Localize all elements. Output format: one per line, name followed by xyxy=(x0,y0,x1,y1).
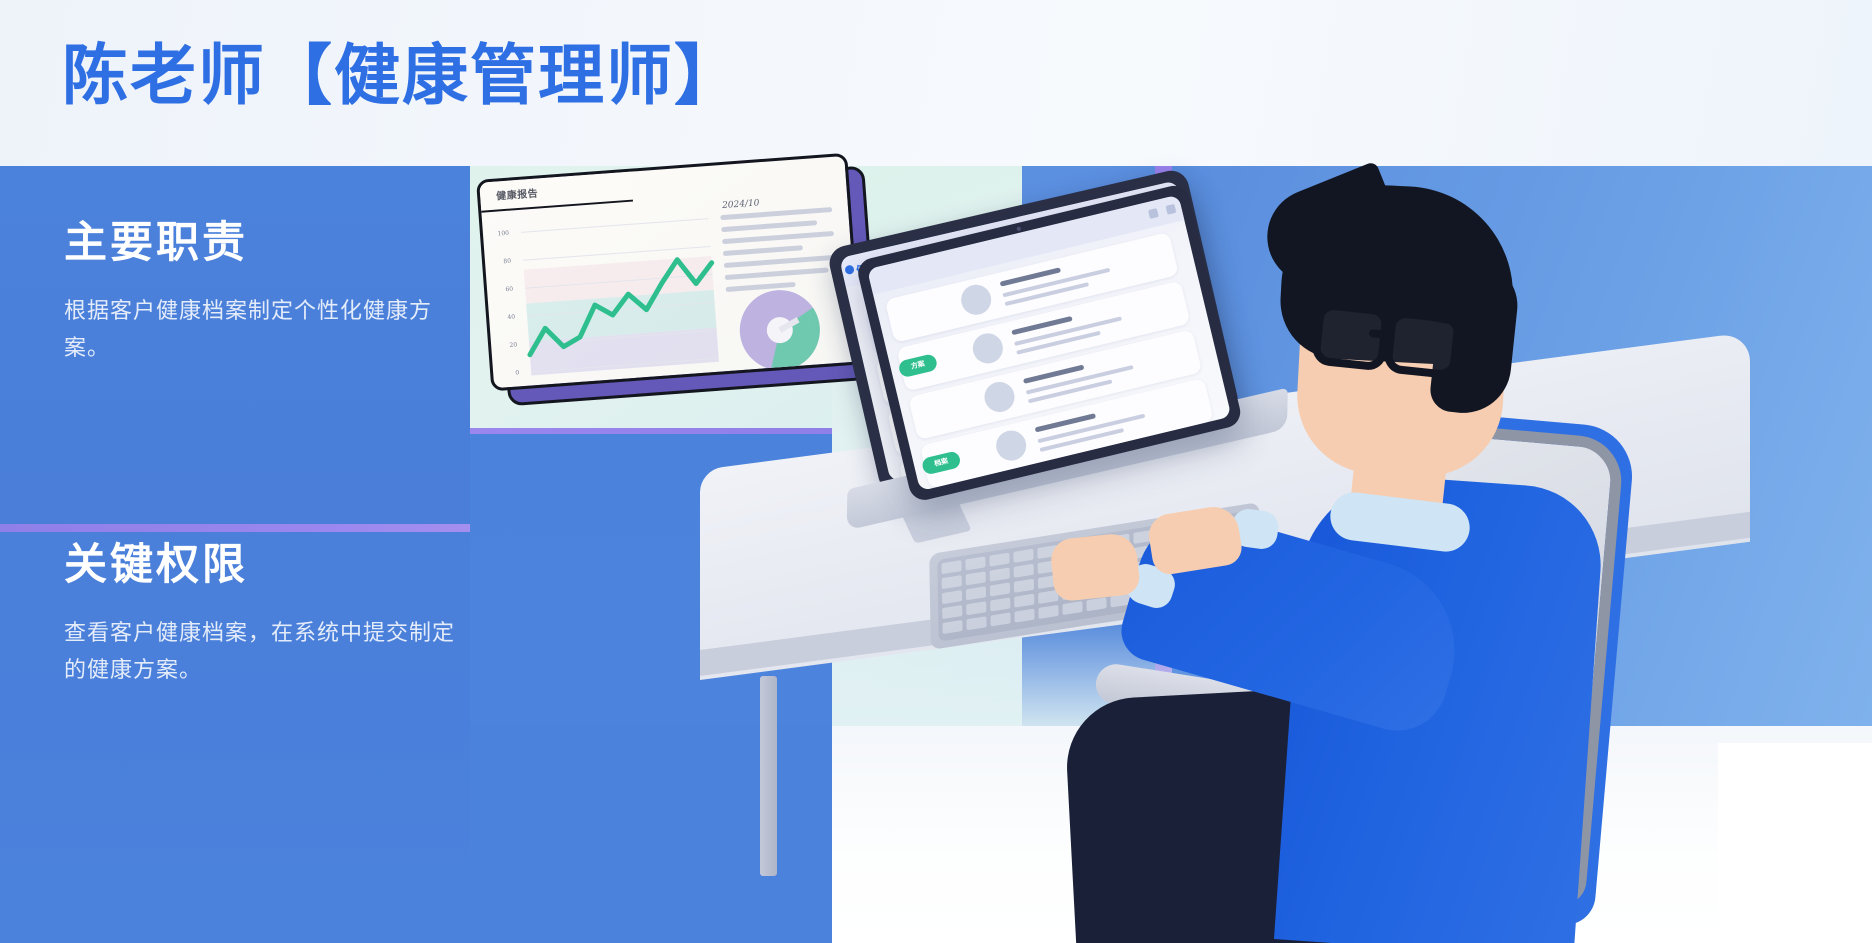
section-main-responsibility: 主要职责 根据客户健康档案制定个性化健康方案。 xyxy=(64,220,464,366)
card-text-line xyxy=(723,245,803,256)
floor-left-blue xyxy=(470,726,832,943)
chart-y-tick-label: 80 xyxy=(491,258,511,266)
header-band: 陈老师【健康管理师】 xyxy=(0,0,1872,166)
card-front: 健康报告 2024/10 100806040200 xyxy=(476,153,863,392)
page-title: 陈老师【健康管理师】 xyxy=(62,42,742,108)
keyboard-key[interactable] xyxy=(942,590,962,604)
avatar xyxy=(970,330,1006,366)
app-logo-icon xyxy=(844,264,855,275)
section-title: 关键权限 xyxy=(64,542,464,589)
card-text-line xyxy=(724,255,836,268)
person-hand-left xyxy=(1049,532,1141,603)
keyboard-key[interactable] xyxy=(941,560,961,574)
left-purple-divider xyxy=(0,524,470,532)
chart-line-path xyxy=(511,213,731,378)
keyboard-key[interactable] xyxy=(966,616,986,630)
card-text-line xyxy=(722,231,834,244)
chart-y-tick-label: 100 xyxy=(489,230,509,238)
keyboard-key[interactable] xyxy=(990,597,1010,611)
keyboard-key[interactable] xyxy=(966,601,986,615)
maximize-icon[interactable] xyxy=(1165,204,1176,215)
row-action-button[interactable]: 档案 xyxy=(921,450,962,475)
keyboard-key[interactable] xyxy=(1038,605,1058,619)
keyboard-key[interactable] xyxy=(942,575,962,589)
card-text-line xyxy=(721,220,817,232)
right-window-controls[interactable] xyxy=(1148,200,1194,219)
health-report-card: 健康报告 2024/10 100806040200 xyxy=(476,152,872,409)
avatar xyxy=(958,282,994,318)
section-key-permission: 关键权限 查看客户健康档案，在系统中提交制定的健康方案。 xyxy=(64,542,464,688)
chart-y-tick-label: 0 xyxy=(499,369,519,377)
section-body: 查看客户健康档案，在系统中提交制定的健康方案。 xyxy=(64,615,464,688)
card-text-lines xyxy=(720,207,838,299)
chart-y-tick-label: 20 xyxy=(497,341,517,349)
keyboard-key[interactable] xyxy=(966,571,986,585)
keyboard-key[interactable] xyxy=(1014,579,1034,593)
keyboard-key[interactable] xyxy=(990,582,1010,596)
keyboard-key[interactable] xyxy=(1014,594,1034,608)
row-action-button[interactable]: 方案 xyxy=(897,353,938,378)
section-title: 主要职责 xyxy=(64,220,464,267)
keyboard-key[interactable] xyxy=(989,553,1009,567)
keyboard-key[interactable] xyxy=(990,612,1010,626)
webcam-icon xyxy=(1016,226,1021,231)
poster-canvas: 陈老师【健康管理师】 主要职责 根据客户健康档案制定个性化健康方案。 关键权限 … xyxy=(0,0,1872,943)
keyboard-key[interactable] xyxy=(1014,609,1034,623)
section-body: 根据客户健康档案制定个性化健康方案。 xyxy=(64,293,464,366)
keyboard-key[interactable] xyxy=(1014,564,1034,578)
minimize-icon[interactable] xyxy=(1148,208,1159,219)
keyboard-key[interactable] xyxy=(990,567,1010,581)
chart-y-tick-label: 60 xyxy=(493,286,513,294)
keyboard-key[interactable] xyxy=(942,620,962,634)
keyboard-key[interactable] xyxy=(965,556,985,570)
line-chart: 100806040200 xyxy=(511,214,719,376)
bottom-right-white-patch xyxy=(1718,743,1872,943)
keyboard-key[interactable] xyxy=(942,605,962,619)
desk-leg xyxy=(760,676,777,876)
card-text-line xyxy=(725,267,829,280)
keyboard-key[interactable] xyxy=(966,586,986,600)
row-action-label: 方案 xyxy=(898,356,937,375)
keyboard-key[interactable] xyxy=(1062,601,1082,615)
donut-chart xyxy=(734,284,826,376)
keyboard-key[interactable] xyxy=(1013,549,1033,563)
avatar xyxy=(993,428,1029,464)
card-date-label: 2024/10 xyxy=(722,198,760,211)
card-tab-label: 健康报告 xyxy=(496,185,539,203)
chart-y-tick-label: 40 xyxy=(495,314,515,322)
avatar xyxy=(981,379,1017,415)
row-action-label: 档案 xyxy=(922,453,961,472)
keyboard-key[interactable] xyxy=(1086,597,1106,611)
